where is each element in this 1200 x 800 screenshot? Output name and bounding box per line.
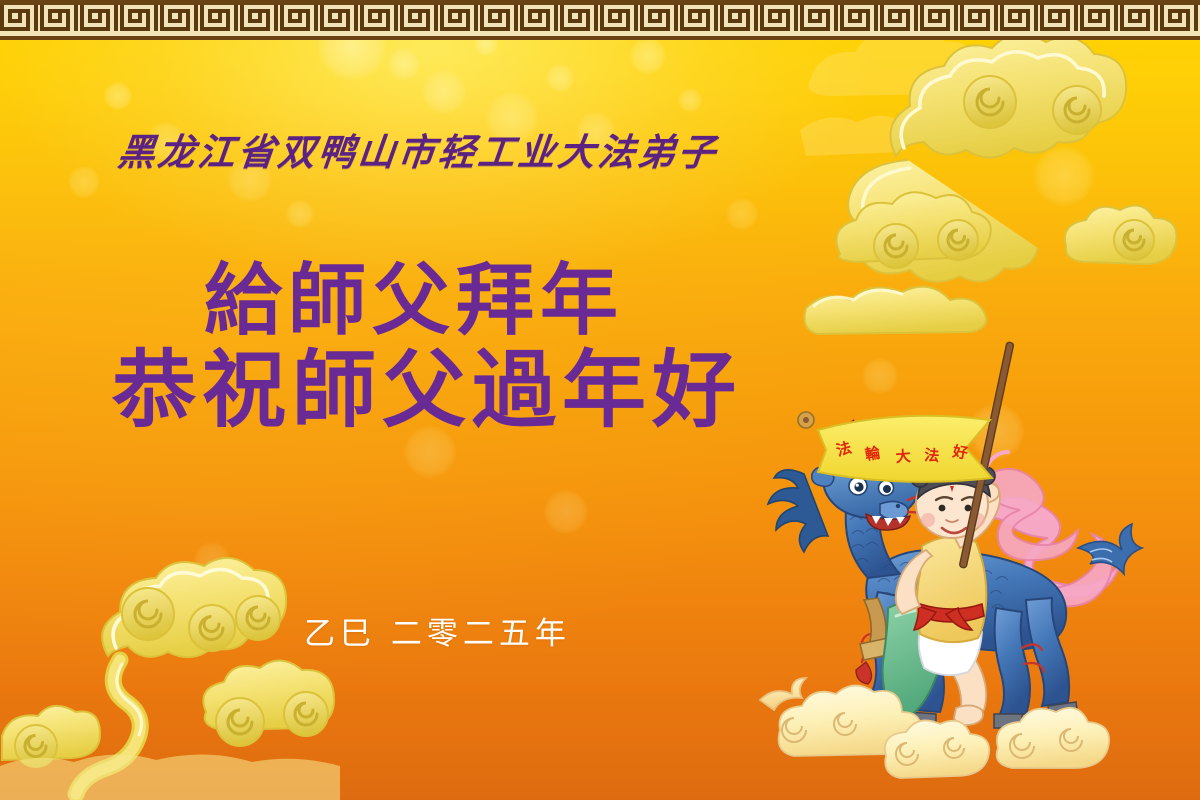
- meander-unit: [1040, 5, 1080, 36]
- cloud-top-right: [800, 40, 1200, 330]
- falun-dafa-banner: 法 輪 大 法 好: [798, 412, 992, 482]
- title-line-2: 恭祝師父過年好: [112, 348, 742, 434]
- meander-unit: [560, 5, 600, 36]
- meander-unit: [240, 5, 280, 36]
- meander-unit: [840, 5, 880, 36]
- meander-unit: [960, 5, 1000, 36]
- meander-unit: [720, 5, 760, 36]
- meander-unit: [40, 5, 80, 36]
- bokeh-dot: [104, 82, 132, 110]
- meander-unit: [0, 5, 40, 36]
- boy-riding-dragon-illustration: 法 輪 大 法 好: [760, 400, 1200, 800]
- bokeh-dot: [422, 70, 466, 114]
- date-line: 乙巳 二零二五年: [304, 608, 571, 653]
- bokeh-dot: [1034, 146, 1094, 206]
- meander-unit: [200, 5, 240, 36]
- bokeh-dot: [678, 88, 702, 112]
- meander-unit: [600, 5, 640, 36]
- meander-unit: [120, 5, 160, 36]
- title-line-1: 給師父拜年: [112, 262, 742, 342]
- greeting-card: 法 輪 大 法 好: [0, 0, 1200, 800]
- meander-unit: [440, 5, 480, 36]
- meander-unit: [920, 5, 960, 36]
- cloud-bottom-left: [0, 560, 340, 800]
- meander-unit: [280, 5, 320, 36]
- meander-unit: [800, 5, 840, 36]
- bokeh-dot: [630, 38, 666, 74]
- bokeh-dot: [546, 64, 574, 92]
- meander-unit: [1080, 5, 1120, 36]
- svg-text:好: 好: [950, 442, 969, 463]
- meander-unit: [80, 5, 120, 36]
- bokeh-dot: [286, 200, 314, 228]
- svg-text:大: 大: [895, 447, 911, 466]
- bokeh-dot: [68, 166, 100, 198]
- bokeh-dot: [388, 48, 420, 80]
- svg-text:法: 法: [924, 446, 940, 465]
- header-line: 黑龙江省双鸭山市轻工业大法弟子: [116, 134, 720, 171]
- meander-unit: [1160, 5, 1200, 36]
- meander-unit: [320, 5, 360, 36]
- meander-unit: [760, 5, 800, 36]
- meander-unit: [1000, 5, 1040, 36]
- page-title: 給師父拜年 恭祝師父過年好: [112, 262, 742, 433]
- meander-unit: [520, 5, 560, 36]
- decorative-border-top: [0, 0, 1200, 40]
- bokeh-dot: [194, 542, 230, 578]
- meander-unit: [160, 5, 200, 36]
- bokeh-dot: [726, 198, 758, 230]
- meander-unit: [680, 5, 720, 36]
- bokeh-dot: [544, 490, 588, 534]
- bokeh-dot: [862, 358, 898, 394]
- meander-unit: [1120, 5, 1160, 36]
- meander-unit: [360, 5, 400, 36]
- meander-unit: [480, 5, 520, 36]
- meander-unit: [640, 5, 680, 36]
- meander-unit: [400, 5, 440, 36]
- bokeh-dot: [142, 582, 170, 610]
- meander-unit: [880, 5, 920, 36]
